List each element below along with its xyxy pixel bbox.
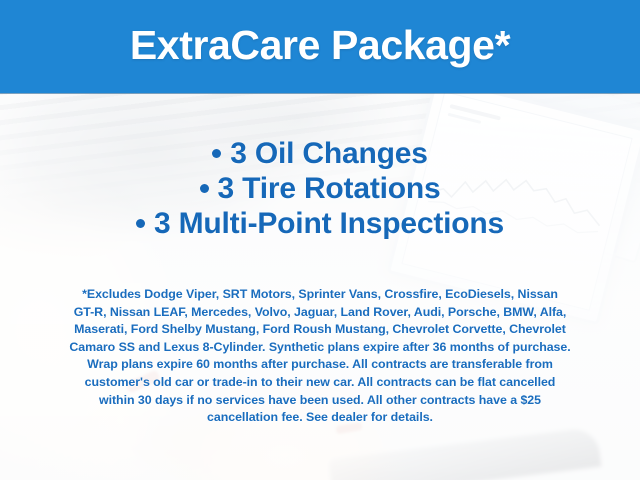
- benefit-label: 3 Tire Rotations: [218, 172, 441, 205]
- benefits-list: 3 Oil Changes 3 Tire Rotations 3 Multi-P…: [0, 136, 640, 241]
- disclaimer-line: cancellation fee. See dealer for details…: [26, 409, 614, 427]
- list-item: 3 Tire Rotations: [0, 171, 640, 206]
- page-title: ExtraCare Package*: [130, 25, 510, 69]
- bullet-dot-icon: [136, 219, 145, 228]
- bullet-dot-icon: [200, 184, 209, 193]
- disclaimer-line: GT-R, Nissan LEAF, Mercedes, Volvo, Jagu…: [26, 304, 614, 322]
- disclaimer-text: *Excludes Dodge Viper, SRT Motors, Sprin…: [26, 286, 614, 427]
- benefit-label: 3 Multi-Point Inspections: [154, 207, 504, 240]
- extracare-package-promo: ExtraCare Package* 3 Oil Changes 3 Tire …: [0, 0, 640, 480]
- disclaimer-line: within 30 days if no services have been …: [26, 392, 614, 410]
- bullet-dot-icon: [212, 149, 221, 158]
- list-item: 3 Oil Changes: [0, 136, 640, 171]
- benefit-label: 3 Oil Changes: [230, 137, 427, 170]
- list-item: 3 Multi-Point Inspections: [0, 206, 640, 241]
- header-banner: ExtraCare Package*: [0, 0, 640, 93]
- disclaimer-line: Maserati, Ford Shelby Mustang, Ford Rous…: [26, 321, 614, 339]
- disclaimer-line: customer's old car or trade-in to their …: [26, 374, 614, 392]
- disclaimer-line: Wrap plans expire 60 months after purcha…: [26, 356, 614, 374]
- disclaimer-line: *Excludes Dodge Viper, SRT Motors, Sprin…: [26, 286, 614, 304]
- disclaimer-line: Camaro SS and Lexus 8-Cylinder. Syntheti…: [26, 339, 614, 357]
